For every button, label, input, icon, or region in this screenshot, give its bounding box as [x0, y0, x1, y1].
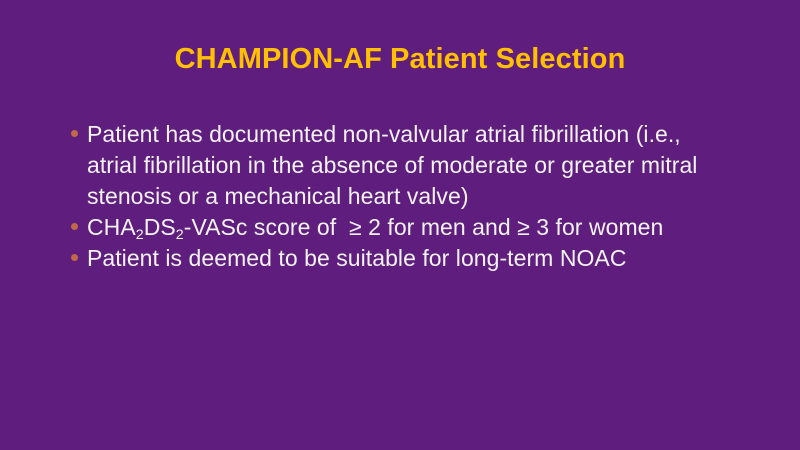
bullet-dot-icon — [71, 254, 78, 261]
list-item: Patient is deemed to be suitable for lon… — [68, 243, 728, 274]
page-title: CHAMPION-AF Patient Selection — [0, 41, 800, 77]
list-item-label: Patient is deemed to be suitable for lon… — [87, 243, 728, 274]
list-item-label: CHA2DS2-VASc score of ≥ 2 for men and ≥ … — [87, 212, 728, 243]
list-item: CHA2DS2-VASc score of ≥ 2 for men and ≥ … — [68, 212, 728, 243]
slide-canvas: CHAMPION-AF Patient Selection Patient ha… — [0, 0, 800, 450]
bullet-dot-icon — [71, 130, 78, 137]
bullet-dot-icon — [71, 223, 78, 230]
segment-text: DS — [144, 214, 176, 240]
segment-subscript: 2 — [176, 227, 184, 243]
segment-text: CHA — [87, 214, 136, 240]
segment-subscript: 2 — [136, 227, 144, 243]
segment-text: -VASc score of ≥ 2 for men and ≥ 3 for w… — [184, 214, 664, 240]
bullet-list: Patient has documented non-valvular atri… — [68, 119, 728, 274]
list-item: Patient has documented non-valvular atri… — [68, 119, 728, 212]
list-item-label: Patient has documented non-valvular atri… — [87, 119, 728, 212]
